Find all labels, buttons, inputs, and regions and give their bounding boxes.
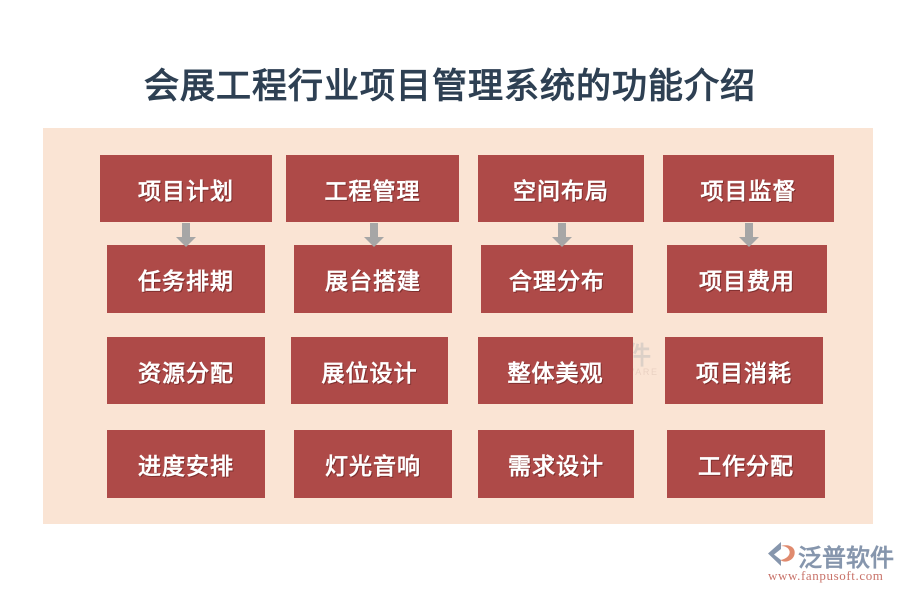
node-label: 工程管理 bbox=[325, 172, 421, 206]
node-label: 进度安排 bbox=[138, 447, 234, 481]
node-box-engineering-management-2[interactable]: 展台搭建 bbox=[294, 245, 452, 313]
arrow-down-icon-engineering-management bbox=[363, 223, 385, 248]
node-label: 项目监督 bbox=[701, 172, 797, 206]
node-label: 资源分配 bbox=[138, 354, 234, 388]
node-box-project-supervision-4[interactable]: 工作分配 bbox=[667, 430, 825, 498]
node-label: 需求设计 bbox=[508, 447, 604, 481]
node-label: 工作分配 bbox=[698, 447, 794, 481]
node-label: 展位设计 bbox=[322, 354, 418, 388]
node-box-project-plan-2[interactable]: 任务排期 bbox=[107, 245, 265, 313]
node-box-project-plan-4[interactable]: 进度安排 bbox=[107, 430, 265, 498]
fanpu-logo-mark-icon bbox=[766, 540, 798, 567]
brand-url: www.fanpusoft.com bbox=[768, 568, 884, 584]
node-box-engineering-management-4[interactable]: 灯光音响 bbox=[294, 430, 452, 498]
node-box-spatial-layout-3[interactable]: 整体美观 bbox=[478, 337, 633, 404]
node-label: 项目计划 bbox=[138, 172, 234, 206]
node-label: 项目消耗 bbox=[696, 354, 792, 388]
node-box-project-plan-3[interactable]: 资源分配 bbox=[107, 337, 265, 404]
node-box-spatial-layout-1[interactable]: 空间布局 bbox=[478, 155, 644, 222]
brand-logo: 泛普软件 www.fanpusoft.com bbox=[766, 538, 888, 590]
node-label: 整体美观 bbox=[508, 354, 604, 388]
node-box-project-plan-1[interactable]: 项目计划 bbox=[100, 155, 272, 222]
node-label: 灯光音响 bbox=[325, 447, 421, 481]
arrow-down-icon-project-plan bbox=[175, 223, 197, 248]
arrow-down-icon-project-supervision bbox=[738, 223, 760, 248]
node-box-spatial-layout-2[interactable]: 合理分布 bbox=[481, 245, 633, 313]
node-box-project-supervision-3[interactable]: 项目消耗 bbox=[665, 337, 823, 404]
node-box-spatial-layout-4[interactable]: 需求设计 bbox=[478, 430, 634, 498]
node-label: 合理分布 bbox=[509, 262, 605, 296]
node-label: 项目费用 bbox=[699, 262, 795, 296]
node-box-engineering-management-3[interactable]: 展位设计 bbox=[291, 337, 448, 404]
page-title: 会展工程行业项目管理系统的功能介绍 bbox=[0, 58, 900, 109]
node-label: 空间布局 bbox=[513, 172, 609, 206]
diagram-canvas: 会展工程行业项目管理系统的功能介绍 泛普软件 FANPU SOFTWARE 项目… bbox=[0, 0, 900, 600]
node-box-project-supervision-1[interactable]: 项目监督 bbox=[663, 155, 834, 222]
node-box-project-supervision-2[interactable]: 项目费用 bbox=[667, 245, 827, 313]
arrow-down-icon-spatial-layout bbox=[551, 223, 573, 248]
node-box-engineering-management-1[interactable]: 工程管理 bbox=[286, 155, 459, 222]
node-label: 展台搭建 bbox=[325, 262, 421, 296]
node-label: 任务排期 bbox=[138, 262, 234, 296]
